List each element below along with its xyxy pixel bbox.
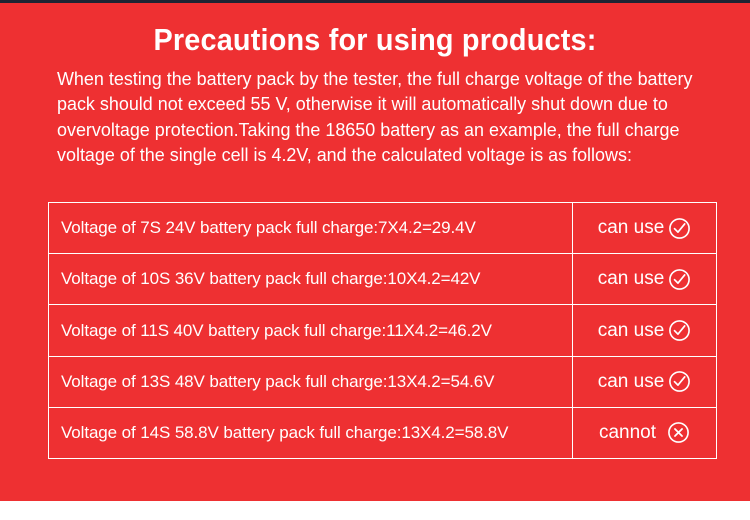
row-description: Voltage of 11S 40V battery pack full cha… — [49, 305, 573, 355]
table-row: Voltage of 14S 58.8V battery pack full c… — [49, 408, 716, 458]
check-circle-icon — [668, 370, 691, 393]
verdict-label: can use — [598, 268, 665, 290]
row-description: Voltage of 13S 48V battery pack full cha… — [49, 357, 573, 407]
check-circle-icon — [668, 319, 691, 342]
row-description: Voltage of 14S 58.8V battery pack full c… — [49, 408, 573, 458]
verdict-label: can use — [598, 320, 665, 342]
row-verdict: can use — [573, 305, 716, 355]
voltage-calculation-table: Voltage of 7S 24V battery pack full char… — [48, 202, 717, 459]
cross-circle-icon — [667, 421, 690, 444]
check-circle-icon — [668, 217, 691, 240]
table-row: Voltage of 7S 24V battery pack full char… — [49, 203, 716, 254]
red-background: Precautions for using products: When tes… — [0, 3, 750, 501]
table-row: Voltage of 11S 40V battery pack full cha… — [49, 305, 716, 356]
precautions-panel: Precautions for using products: When tes… — [0, 0, 750, 520]
verdict-label: can use — [598, 217, 665, 239]
row-description: Voltage of 10S 36V battery pack full cha… — [49, 254, 573, 304]
row-verdict: cannot — [573, 408, 716, 458]
table-row: Voltage of 13S 48V battery pack full cha… — [49, 357, 716, 408]
verdict-label: cannot — [599, 422, 656, 444]
row-verdict: can use — [573, 254, 716, 304]
intro-paragraph: When testing the battery pack by the tes… — [57, 66, 713, 168]
row-verdict: can use — [573, 203, 716, 253]
row-description: Voltage of 7S 24V battery pack full char… — [49, 203, 573, 253]
page-title: Precautions for using products: — [26, 21, 724, 59]
check-circle-icon — [668, 268, 691, 291]
row-verdict: can use — [573, 357, 716, 407]
verdict-label: can use — [598, 371, 665, 393]
table-row: Voltage of 10S 36V battery pack full cha… — [49, 254, 716, 305]
